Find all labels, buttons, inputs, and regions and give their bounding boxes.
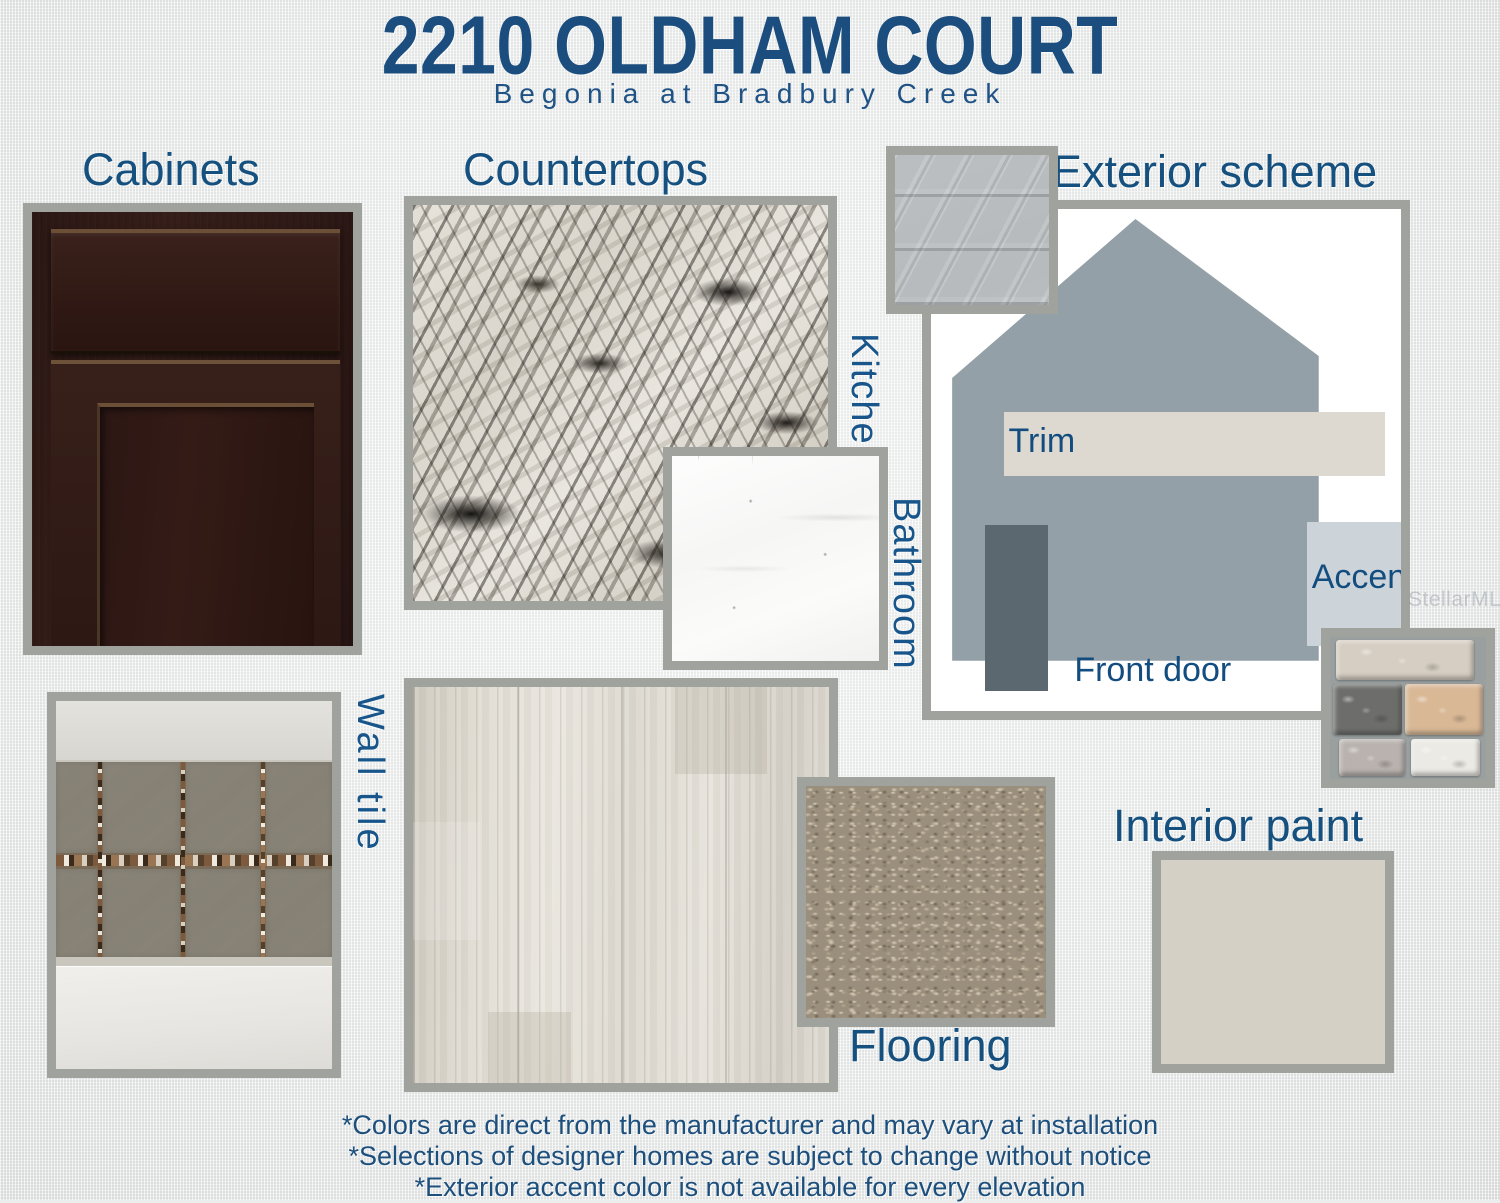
shingle-texture bbox=[895, 155, 1049, 305]
stone-veneer-swatch[interactable] bbox=[1321, 628, 1495, 788]
roof-shingle-swatch[interactable] bbox=[886, 146, 1058, 314]
stone-tile bbox=[103, 869, 180, 957]
plank-flooring-swatch[interactable] bbox=[404, 678, 838, 1092]
section-label-interior-paint: Interior paint bbox=[1113, 802, 1363, 850]
interior-paint-swatch[interactable] bbox=[1152, 851, 1394, 1073]
watermark: StellarMLS bbox=[1408, 588, 1500, 612]
stone-tile bbox=[266, 762, 332, 854]
cabinet-swatch[interactable] bbox=[23, 203, 362, 655]
design-selections-board: 2210 OLDHAM COURT Begonia at Bradbury Cr… bbox=[0, 0, 1500, 1200]
mosaic-accent-strip bbox=[98, 762, 102, 957]
stone-tile bbox=[186, 869, 261, 957]
mosaic-accent-strip bbox=[181, 762, 185, 957]
stone-tile bbox=[266, 869, 332, 957]
disclaimer-line-3: *Exterior accent color is not available … bbox=[0, 1172, 1500, 1203]
stone-tile bbox=[56, 762, 97, 854]
disclaimer-line-2: *Selections of designer homes are subjec… bbox=[0, 1141, 1500, 1172]
carpet-swatch[interactable] bbox=[797, 777, 1055, 1027]
label-accent: Accent bbox=[1312, 558, 1401, 597]
section-label-wall-tile: Wall tile bbox=[348, 694, 391, 853]
page-subtitle: Begonia at Bradbury Creek bbox=[0, 78, 1500, 110]
bathroom-countertop-swatch[interactable] bbox=[663, 447, 888, 670]
wall-tile-layout bbox=[56, 701, 332, 1069]
cabinet-door-sample bbox=[32, 212, 353, 646]
section-label-flooring: Flooring bbox=[849, 1022, 1012, 1070]
label-bathroom: Bathroom bbox=[884, 497, 927, 670]
interior-paint-color bbox=[1161, 860, 1385, 1064]
section-label-cabinets: Cabinets bbox=[82, 146, 260, 194]
mosaic-accent-strip bbox=[261, 762, 265, 957]
wall-tile-top-trim bbox=[56, 701, 332, 760]
front-door-swatch[interactable] bbox=[985, 525, 1048, 691]
wall-tile-field-tile bbox=[56, 966, 332, 1069]
label-trim: Trim bbox=[1009, 422, 1076, 461]
plank-variation bbox=[675, 687, 767, 774]
plank-variation bbox=[488, 1012, 571, 1083]
marble-texture bbox=[672, 456, 879, 661]
stone-block bbox=[1339, 739, 1405, 776]
stone-block bbox=[1405, 684, 1483, 735]
stone-block bbox=[1333, 684, 1402, 735]
carpet-texture bbox=[806, 786, 1046, 1018]
stone-tile bbox=[103, 762, 180, 854]
wall-tile-swatch[interactable] bbox=[47, 692, 341, 1078]
section-label-exterior-scheme: Exterior scheme bbox=[1052, 148, 1377, 196]
stone-block bbox=[1336, 640, 1473, 680]
label-front-door: Front door bbox=[1074, 651, 1231, 690]
cabinet-door-front bbox=[51, 360, 340, 646]
stone-texture bbox=[1330, 637, 1486, 779]
disclaimer-line-1: *Colors are direct from the manufacturer… bbox=[0, 1110, 1500, 1141]
plank-texture bbox=[413, 687, 829, 1083]
disclaimer: *Colors are direct from the manufacturer… bbox=[0, 1110, 1500, 1203]
section-label-countertops: Countertops bbox=[463, 146, 708, 194]
cabinet-drawer-front bbox=[51, 229, 340, 353]
cabinet-center-panel bbox=[97, 403, 314, 646]
shingle-granules bbox=[895, 155, 1049, 305]
stone-tile bbox=[186, 762, 261, 854]
stone-tile bbox=[56, 869, 97, 957]
wall-tile-stone-field bbox=[56, 762, 332, 957]
plank-variation bbox=[413, 822, 480, 941]
stone-block bbox=[1411, 739, 1480, 776]
